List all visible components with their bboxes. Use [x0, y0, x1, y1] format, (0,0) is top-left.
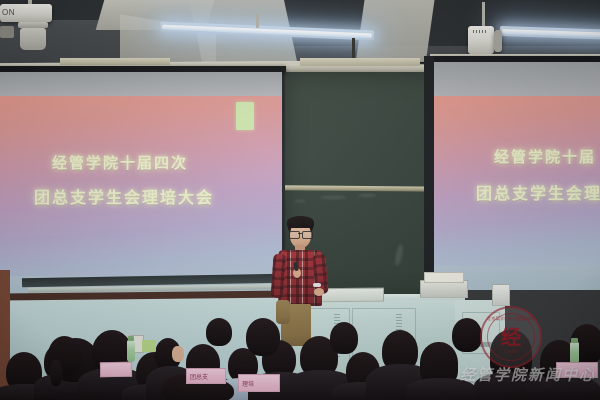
board-trim-a	[60, 58, 170, 65]
news-center-watermark: 经管学院新闻中心	[460, 364, 596, 385]
presenter-wristwatch	[313, 283, 321, 287]
equipment-box	[492, 284, 510, 306]
chalk-smudge-a	[320, 196, 346, 199]
audience-head-20	[330, 322, 358, 354]
audience-head-13	[246, 318, 280, 356]
glasses-bridge	[298, 233, 302, 234]
audience-face-profile	[172, 346, 184, 362]
green-box-item	[142, 340, 156, 352]
projector-vent-right	[473, 30, 487, 33]
presenter-hip	[276, 300, 290, 324]
water-bottle-right	[570, 342, 579, 364]
projector-lens-left	[0, 26, 14, 38]
chalk-smudge-d	[294, 200, 306, 202]
light-stem-left	[256, 14, 259, 28]
audience-ponytail-tail	[50, 360, 62, 386]
water-bottle	[127, 340, 135, 362]
namecard-left	[100, 362, 132, 378]
right-screen-gray-band	[432, 62, 600, 96]
audience-head-19	[452, 318, 482, 352]
logo-arc-text: 北京某学院经济管理学院	[482, 316, 540, 322]
presenter-glasses	[289, 231, 312, 238]
audience-head-21	[206, 318, 232, 346]
right-screen-left-edge	[424, 56, 434, 294]
chalk-smudge-b	[358, 194, 376, 197]
left-screen-gray-band	[0, 72, 282, 96]
presenter-hair-top	[287, 216, 314, 228]
left-projection-screen: 经管学院十届四次 团总支学生会理培大会	[0, 72, 282, 298]
left-slide-line-2: 团总支学生会理培大会	[34, 184, 214, 208]
right-slide-line-2: 团总支学生会理	[476, 180, 600, 204]
logo-emblem: 经	[482, 327, 540, 347]
projector-stem-right	[482, 2, 485, 28]
projector-body-left	[20, 28, 46, 50]
university-logo-watermark: 北京某学院经济管理学院 经 1984	[480, 306, 542, 368]
board-trim-b	[300, 58, 420, 66]
water-bottle-right-cap	[571, 338, 578, 343]
right-projection-screen: 经管学院十届 团总支学生会理	[432, 62, 600, 290]
left-slide-line-1: 经管学院十届四次	[52, 152, 188, 173]
slide-green-accent	[236, 102, 254, 130]
paper-stack-top	[424, 272, 464, 283]
glasses-lens-right	[302, 231, 313, 239]
water-bottle-cap	[128, 336, 134, 341]
logo-year: 1984	[482, 350, 540, 355]
namecard-center-label: 团总支	[190, 372, 208, 381]
lecture-hall-photo: ON 经管学院十届四次 团总支学生会理培大会 经管学院十届 团总支学生会理	[0, 0, 600, 400]
projector-brand-label: ON	[2, 8, 15, 17]
presenter-hand-right	[314, 288, 324, 296]
right-slide-line-1: 经管学院十届	[494, 146, 596, 167]
projector-lens-right	[494, 30, 502, 52]
namecard-center-2-label: 理培	[242, 379, 254, 388]
